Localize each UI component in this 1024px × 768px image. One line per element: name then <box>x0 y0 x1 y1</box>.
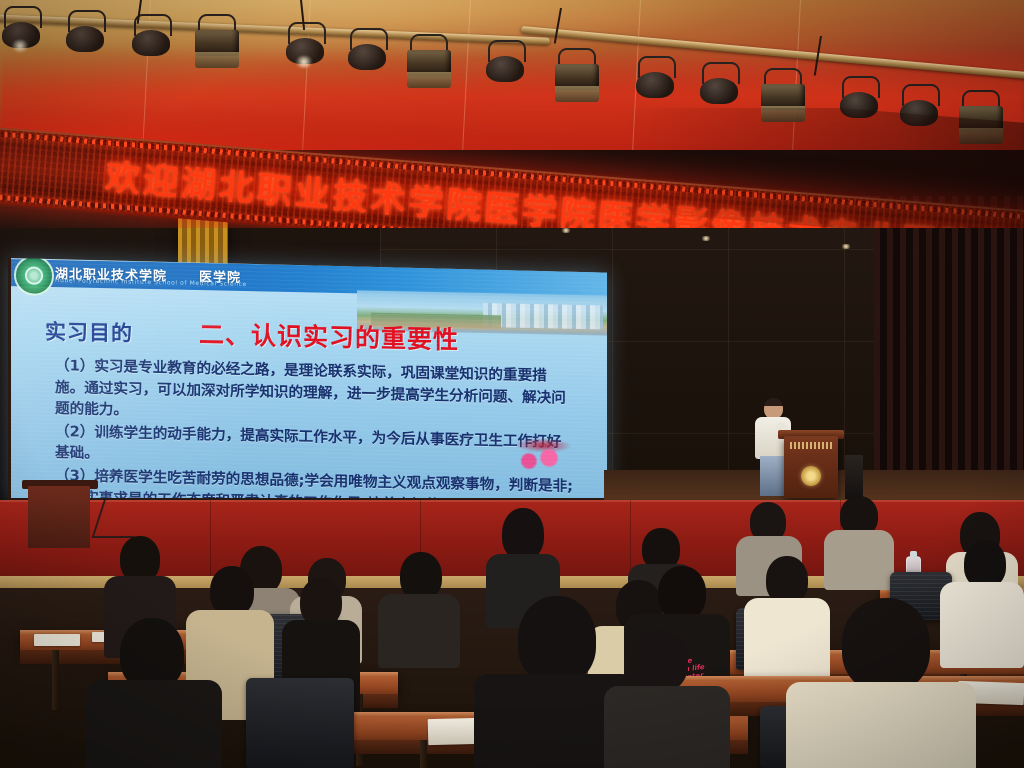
slide-title-red: 二、认识实习的重要性 <box>199 315 459 356</box>
person-head <box>400 552 442 600</box>
person-torso <box>378 594 460 668</box>
ceiling-downlight <box>840 244 852 249</box>
audience-chair-front <box>246 678 354 768</box>
person-torso <box>824 530 894 590</box>
podium-gold-emblem-icon <box>801 466 821 486</box>
side-lectern <box>28 486 90 548</box>
desk-leg <box>52 650 59 710</box>
presenter-head <box>764 398 783 419</box>
person-torso <box>86 680 222 768</box>
person-head <box>658 566 706 620</box>
student-back-8 <box>824 496 894 588</box>
person-head <box>842 598 930 692</box>
auditorium-scene: 欢迎湖北职业技术学院医学院医学影像技术专业团队莅院开展实习动员大会 湖北职业技术… <box>0 0 1024 768</box>
student-front-4 <box>786 598 976 768</box>
person-head <box>502 508 544 560</box>
person-torso <box>604 686 730 768</box>
presenter-legs <box>760 456 786 496</box>
person-head <box>300 578 342 626</box>
podium-nameplate <box>790 442 832 449</box>
slide-paragraph-1: （1）实习是专业教育的必经之路，是理论联系实际，巩固课堂知识的重要措施。通过实习… <box>55 355 575 431</box>
person-torso <box>786 682 976 768</box>
university-seal-icon <box>14 258 54 296</box>
student-front-3 <box>604 630 730 768</box>
slide-flower-graphic <box>497 431 581 477</box>
ceiling-downlight <box>700 236 712 241</box>
student-front-1 <box>86 618 222 768</box>
slide-subtitle-blue: 实习目的 <box>45 316 133 348</box>
person-head <box>964 540 1006 588</box>
led-banner-panel: 欢迎湖北职业技术学院医学院医学影像技术专业团队莅院开展实习动员大会 <box>0 126 1024 228</box>
person-head <box>518 596 596 684</box>
av-equipment-rack <box>845 455 863 499</box>
handout-paper <box>34 634 80 646</box>
desk-leg <box>420 740 427 768</box>
person-head <box>630 630 688 692</box>
student-back-4 <box>378 552 460 664</box>
speaker-podium <box>784 436 838 498</box>
person-head <box>766 556 808 604</box>
led-welcome-banner: 欢迎湖北职业技术学院医学院医学影像技术专业团队莅院开展实习动员大会 <box>0 108 1024 228</box>
person-head <box>210 566 254 616</box>
ceiling-downlight <box>560 228 572 233</box>
projection-screen: 湖北职业技术学院 医学院 Hubei Polytechnic Institute… <box>8 258 607 517</box>
